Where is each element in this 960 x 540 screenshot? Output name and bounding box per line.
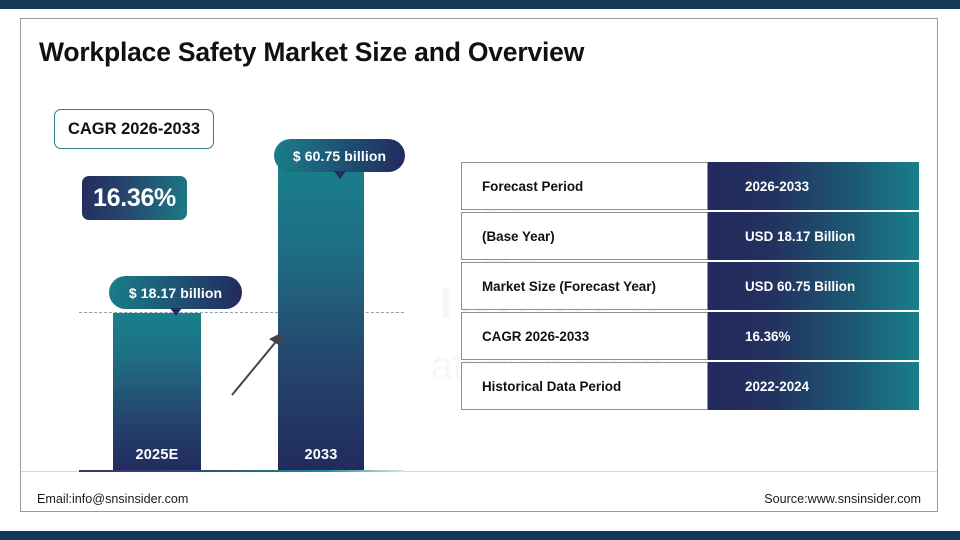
table-label-text: CAGR 2026-2033 — [482, 329, 589, 344]
table-cell-label: Historical Data Period — [461, 362, 708, 410]
overview-table: Forecast Period 2026-2033 (Base Year) US… — [461, 162, 919, 412]
bar-category-label-2033: 2033 — [278, 447, 364, 463]
footer: Email:info@snsinsider.com Source:www.sns… — [21, 485, 937, 512]
table-cell-value: 16.36% — [708, 312, 919, 360]
table-label-text: Market Size (Forecast Year) — [482, 279, 656, 294]
cagr-value-badge: 16.36% — [82, 176, 187, 220]
table-label-text: Forecast Period — [482, 179, 583, 194]
chart-baseline — [79, 470, 404, 472]
value-badge-2033: $ 60.75 billion — [274, 139, 405, 172]
table-value-text: USD 60.75 Billion — [745, 279, 855, 294]
bar-chart: 2025E 2033 $ 18.17 billion $ 60.75 billi… — [21, 19, 461, 512]
footer-email[interactable]: Email:info@snsinsider.com — [37, 492, 188, 506]
cagr-value-label: 16.36% — [93, 184, 176, 213]
growth-arrow-icon — [221, 319, 301, 404]
table-cell-label: Forecast Period — [461, 162, 708, 210]
table-cell-label: CAGR 2026-2033 — [461, 312, 708, 360]
page-title: Workplace Safety Market Size and Overvie… — [39, 37, 584, 68]
value-badge-2025e: $ 18.17 billion — [109, 276, 242, 309]
table-row: (Base Year) USD 18.17 Billion — [461, 212, 919, 260]
bottom-accent-band — [0, 531, 960, 540]
table-row: Historical Data Period 2022-2024 — [461, 362, 919, 410]
table-cell-label: (Base Year) — [461, 212, 708, 260]
table-row: Market Size (Forecast Year) USD 60.75 Bi… — [461, 262, 919, 310]
table-label-text: (Base Year) — [482, 229, 555, 244]
table-value-text: 2022-2024 — [745, 379, 809, 394]
table-cell-value: 2022-2024 — [708, 362, 919, 410]
infographic-card: & INSIDER ategy & stats Workplace Safety… — [20, 18, 938, 512]
table-value-text: 16.36% — [745, 329, 790, 344]
table-label-text: Historical Data Period — [482, 379, 621, 394]
table-cell-value: USD 60.75 Billion — [708, 262, 919, 310]
cagr-period-box: CAGR 2026-2033 — [54, 109, 214, 149]
table-cell-value: 2026-2033 — [708, 162, 919, 210]
table-row: CAGR 2026-2033 16.36% — [461, 312, 919, 360]
cagr-period-label: CAGR 2026-2033 — [68, 120, 200, 139]
table-row: Forecast Period 2026-2033 — [461, 162, 919, 210]
value-badge-2025e-label: $ 18.17 billion — [129, 285, 222, 301]
table-value-text: USD 18.17 Billion — [745, 229, 855, 244]
table-value-text: 2026-2033 — [745, 179, 809, 194]
bar-category-label-2025e: 2025E — [113, 447, 201, 463]
bar-2033 — [278, 160, 364, 471]
value-badge-2033-label: $ 60.75 billion — [293, 148, 386, 164]
table-cell-label: Market Size (Forecast Year) — [461, 262, 708, 310]
table-cell-value: USD 18.17 Billion — [708, 212, 919, 260]
footer-source[interactable]: Source:www.snsinsider.com — [764, 492, 921, 506]
top-accent-band — [0, 0, 960, 9]
